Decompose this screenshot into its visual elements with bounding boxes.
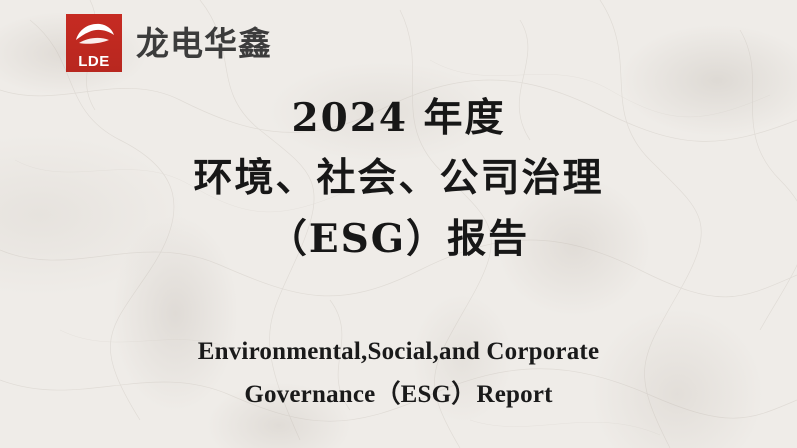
subtitle-line-2: Governance（ESG）Report — [0, 373, 797, 416]
title-line-topic: 环境、社会、公司治理 — [0, 148, 797, 208]
company-name: 龙电华鑫 — [136, 27, 272, 60]
logo-mark-text: LDE — [78, 54, 110, 69]
esg-report-cover: LDE 龙电华鑫 2024 年度 环境、社会、公司治理 （ESG）报告 Envi… — [0, 0, 797, 448]
company-logo: LDE 龙电华鑫 — [66, 14, 272, 72]
cover-title: 2024 年度 环境、社会、公司治理 （ESG）报告 — [0, 88, 797, 269]
logo-mark: LDE — [66, 14, 122, 72]
flame-swoosh-icon — [73, 21, 115, 45]
title-line-esg: （ESG）报告 — [0, 209, 797, 269]
cover-subtitle: Environmental,Social,and Corporate Gover… — [0, 330, 797, 416]
subtitle-line-1: Environmental,Social,and Corporate — [0, 330, 797, 373]
title-line-year: 2024 年度 — [0, 88, 797, 148]
